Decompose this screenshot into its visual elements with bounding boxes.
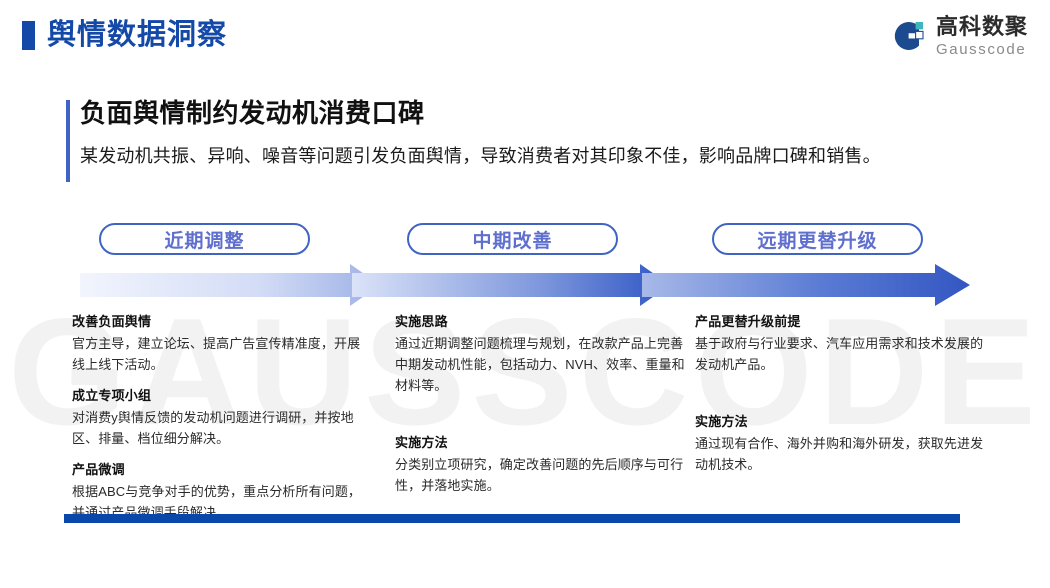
heading-accent-bar: [66, 100, 70, 182]
column-long-term: 产品更替升级前提 基于政府与行业要求、汽车应用需求和技术发展的发动机产品。 实施…: [695, 312, 985, 486]
block-title: 成立专项小组: [72, 386, 362, 405]
slide: GAUSSCODE 舆情数据洞察 高科数聚 Gausscode 负面舆情制约发动…: [0, 0, 1050, 588]
stage-pill-mid-term[interactable]: 中期改善: [407, 223, 618, 255]
block-title: 产品更替升级前提: [695, 312, 985, 331]
gausscode-logo-icon: [889, 17, 927, 55]
content-block: 实施方法 分类别立项研究，确定改善问题的先后顺序与可行性，并落地实施。: [395, 433, 685, 496]
block-title: 实施方法: [395, 433, 685, 452]
slide-header: 舆情数据洞察 高科数聚 Gausscode: [0, 0, 1050, 72]
block-body: 分类别立项研究，确定改善问题的先后顺序与可行性，并落地实施。: [395, 454, 685, 496]
logo-text-cn: 高科数聚: [936, 16, 1028, 38]
block-title: 产品微调: [72, 460, 362, 479]
content-block: 产品更替升级前提 基于政府与行业要求、汽车应用需求和技术发展的发动机产品。: [695, 312, 985, 375]
block-body: 对消费y舆情反馈的发动机问题进行调研，并按地区、排量、档位细分解决。: [72, 407, 362, 449]
stage-pill-long-term[interactable]: 远期更替升级: [712, 223, 923, 255]
content-block: 改善负面舆情 官方主导，建立论坛、提高广告宣传精准度，开展线上线下活动。: [72, 312, 362, 375]
content-block: 成立专项小组 对消费y舆情反馈的发动机问题进行调研，并按地区、排量、档位细分解决…: [72, 386, 362, 449]
logo-wordmark: 高科数聚 Gausscode: [936, 16, 1028, 57]
block-title: 实施方法: [695, 412, 985, 431]
heading-subtitle: 某发动机共振、异响、噪音等问题引发负面舆情，导致消费者对其印象不佳，影响品牌口碑…: [80, 143, 881, 169]
block-body: 通过现有合作、海外并购和海外研发，获取先进发动机技术。: [695, 433, 985, 475]
block-title: 实施思路: [395, 312, 685, 331]
heading-title: 负面舆情制约发动机消费口碑: [80, 96, 425, 130]
logo-text-en: Gausscode: [936, 42, 1028, 57]
footer-bar: [64, 514, 960, 523]
stage-pill-near-term[interactable]: 近期调整: [99, 223, 310, 255]
block-title: 改善负面舆情: [72, 312, 362, 331]
page-title: 舆情数据洞察: [47, 16, 227, 54]
brand-logo: 高科数聚 Gausscode: [889, 13, 1028, 59]
block-body: 官方主导，建立论坛、提高广告宣传精准度，开展线上线下活动。: [72, 333, 362, 375]
content-block: 实施思路 通过近期调整问题梳理与规划，在改款产品上完善中期发动机性能，包括动力、…: [395, 312, 685, 396]
content-block: 实施方法 通过现有合作、海外并购和海外研发，获取先进发动机技术。: [695, 412, 985, 475]
spacer: [695, 386, 985, 412]
timeline-arrow: [80, 264, 970, 306]
column-mid-term: 实施思路 通过近期调整问题梳理与规划，在改款产品上完善中期发动机性能，包括动力、…: [395, 312, 685, 507]
header-marker-icon: [22, 21, 35, 50]
spacer: [395, 407, 685, 433]
block-body: 通过近期调整问题梳理与规划，在改款产品上完善中期发动机性能，包括动力、NVH、效…: [395, 333, 685, 396]
block-body: 基于政府与行业要求、汽车应用需求和技术发展的发动机产品。: [695, 333, 985, 375]
column-near-term: 改善负面舆情 官方主导，建立论坛、提高广告宣传精准度，开展线上线下活动。 成立专…: [72, 312, 362, 534]
